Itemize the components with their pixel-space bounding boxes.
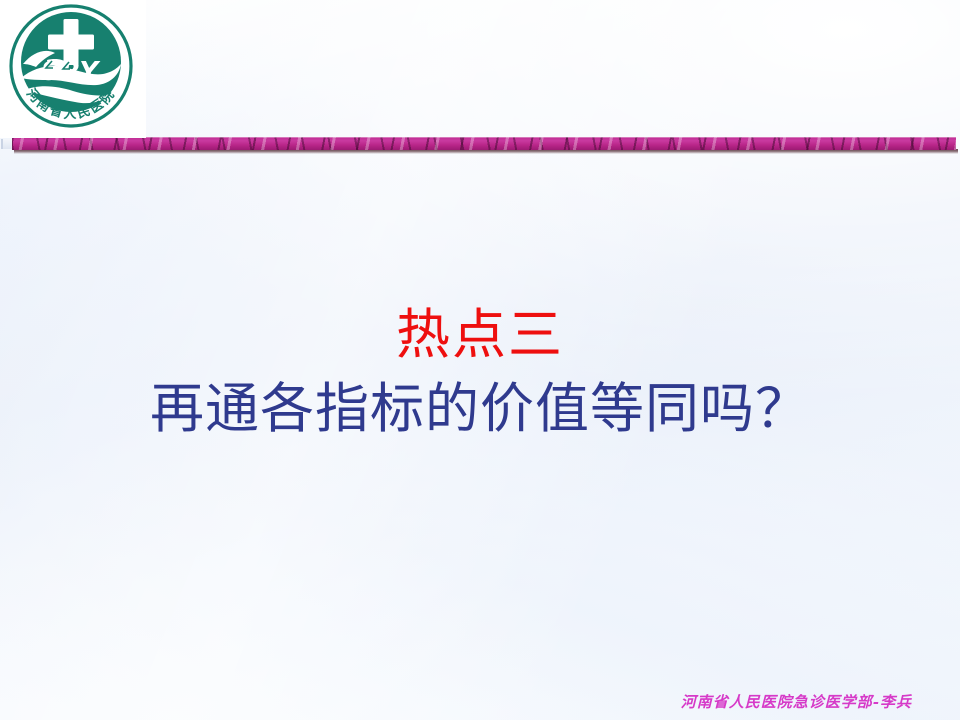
slide-title-subheading: 再通各指标的价值等同吗？ [0, 370, 960, 448]
divider-bar [12, 137, 956, 150]
footer-signature: 河南省人民医院急诊医学部-李兵 [681, 692, 912, 712]
svg-text:SRY: SRY [41, 57, 101, 87]
logo-plate: SRY 河南省人民医院 [0, 0, 146, 138]
magenta-divider [12, 137, 956, 155]
slide-title-block: 热点三 再通各指标的价值等同吗？ [0, 300, 960, 448]
presentation-slide: SRY 河南省人民医院 热点三 再通各指标的价值等同吗？ 河南省人民医院急诊医学… [0, 0, 960, 720]
hospital-logo-icon: SRY 河南省人民医院 [3, 2, 139, 136]
slide-title-heading: 热点三 [0, 300, 960, 370]
